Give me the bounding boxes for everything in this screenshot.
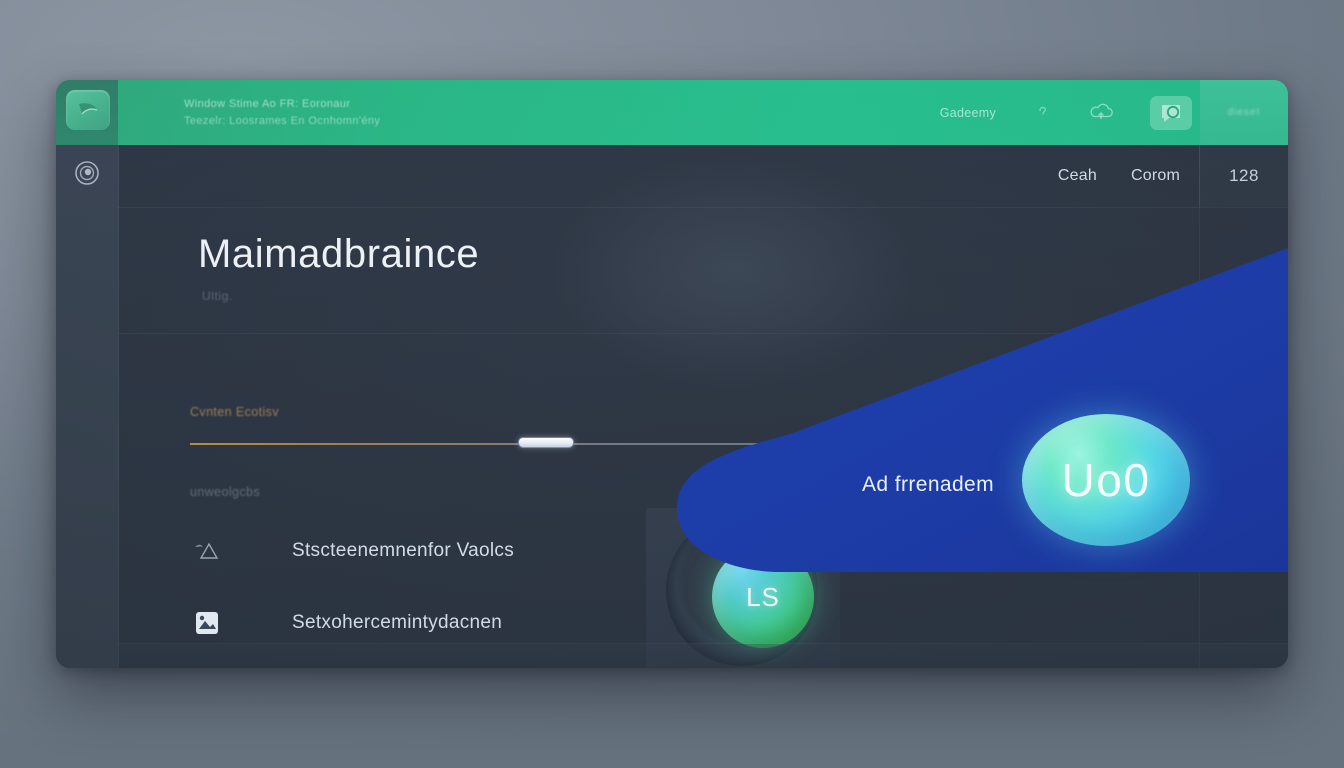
title-bar-right-panel-label: dieset (1228, 107, 1261, 118)
top-nav: Ceah Corom (1058, 145, 1180, 207)
slider-label: Cvnten Ecotisv (190, 405, 279, 419)
list-item-label: Setxohercemintydacnen (292, 612, 502, 634)
warning-triangle-icon (190, 536, 224, 566)
app-body: Ceah Corom 128 Maimadbraince Ultig. Cvnt… (56, 145, 1288, 668)
cloud-upload-icon[interactable] (1090, 100, 1116, 126)
question-mark-icon[interactable] (1030, 100, 1056, 126)
page-subtitle: Ultig. (202, 289, 233, 303)
sidebar-rail (56, 145, 119, 668)
page-header: Maimadbraince Ultig. (118, 207, 1288, 334)
promo-banner-orb[interactable]: Uo0 (1022, 414, 1190, 546)
title-bar-right-panel[interactable]: dieset (1200, 80, 1288, 145)
list-item[interactable]: Stscteenemnenfor Vaolcs (190, 525, 514, 577)
count-panel[interactable]: 128 (1199, 145, 1288, 207)
top-nav-item-0[interactable]: Ceah (1058, 167, 1097, 185)
top-nav-item-1[interactable]: Corom (1131, 167, 1180, 185)
title-bar-secondary-text: Teezelr: Loosrames En Ocnhomn'ény (184, 115, 380, 127)
lower-panel (118, 644, 1288, 668)
app-window: Window Stime Ao FR: Eoronaur Teezelr: Lo… (56, 80, 1288, 668)
top-bar: Ceah Corom 128 (118, 145, 1288, 208)
slider-thumb[interactable] (518, 437, 574, 448)
count-value: 128 (1229, 166, 1259, 186)
title-bar-actions: Gadeemy (940, 80, 1192, 145)
title-bar-action-label[interactable]: Gadeemy (940, 106, 996, 120)
list-item[interactable]: Setxohercemintydacnen (190, 597, 502, 649)
title-bar-rail (56, 80, 118, 145)
promo-banner-orb-label: Uo0 (1062, 453, 1151, 507)
title-bar: Window Stime Ao FR: Eoronaur Teezelr: Lo… (56, 80, 1288, 145)
image-frame-icon (190, 608, 224, 638)
desktop-background: Window Stime Ao FR: Eoronaur Teezelr: Lo… (0, 0, 1344, 768)
section-note: 8rheVscon (1058, 391, 1131, 407)
promo-banner-text: Ad frrenadem (862, 473, 994, 497)
title-bar-primary-text: Window Stime Ao FR: Eoronaur (184, 98, 350, 110)
slider-end-marker-icon (1182, 433, 1228, 447)
eye-target-icon[interactable] (69, 155, 105, 191)
chat-bubble-icon[interactable] (1150, 96, 1192, 130)
leaf-logo-icon[interactable] (66, 90, 110, 130)
page-title: Maimadbraince (198, 232, 479, 277)
list-item-label: Stscteenemnenfor Vaolcs (292, 540, 514, 562)
